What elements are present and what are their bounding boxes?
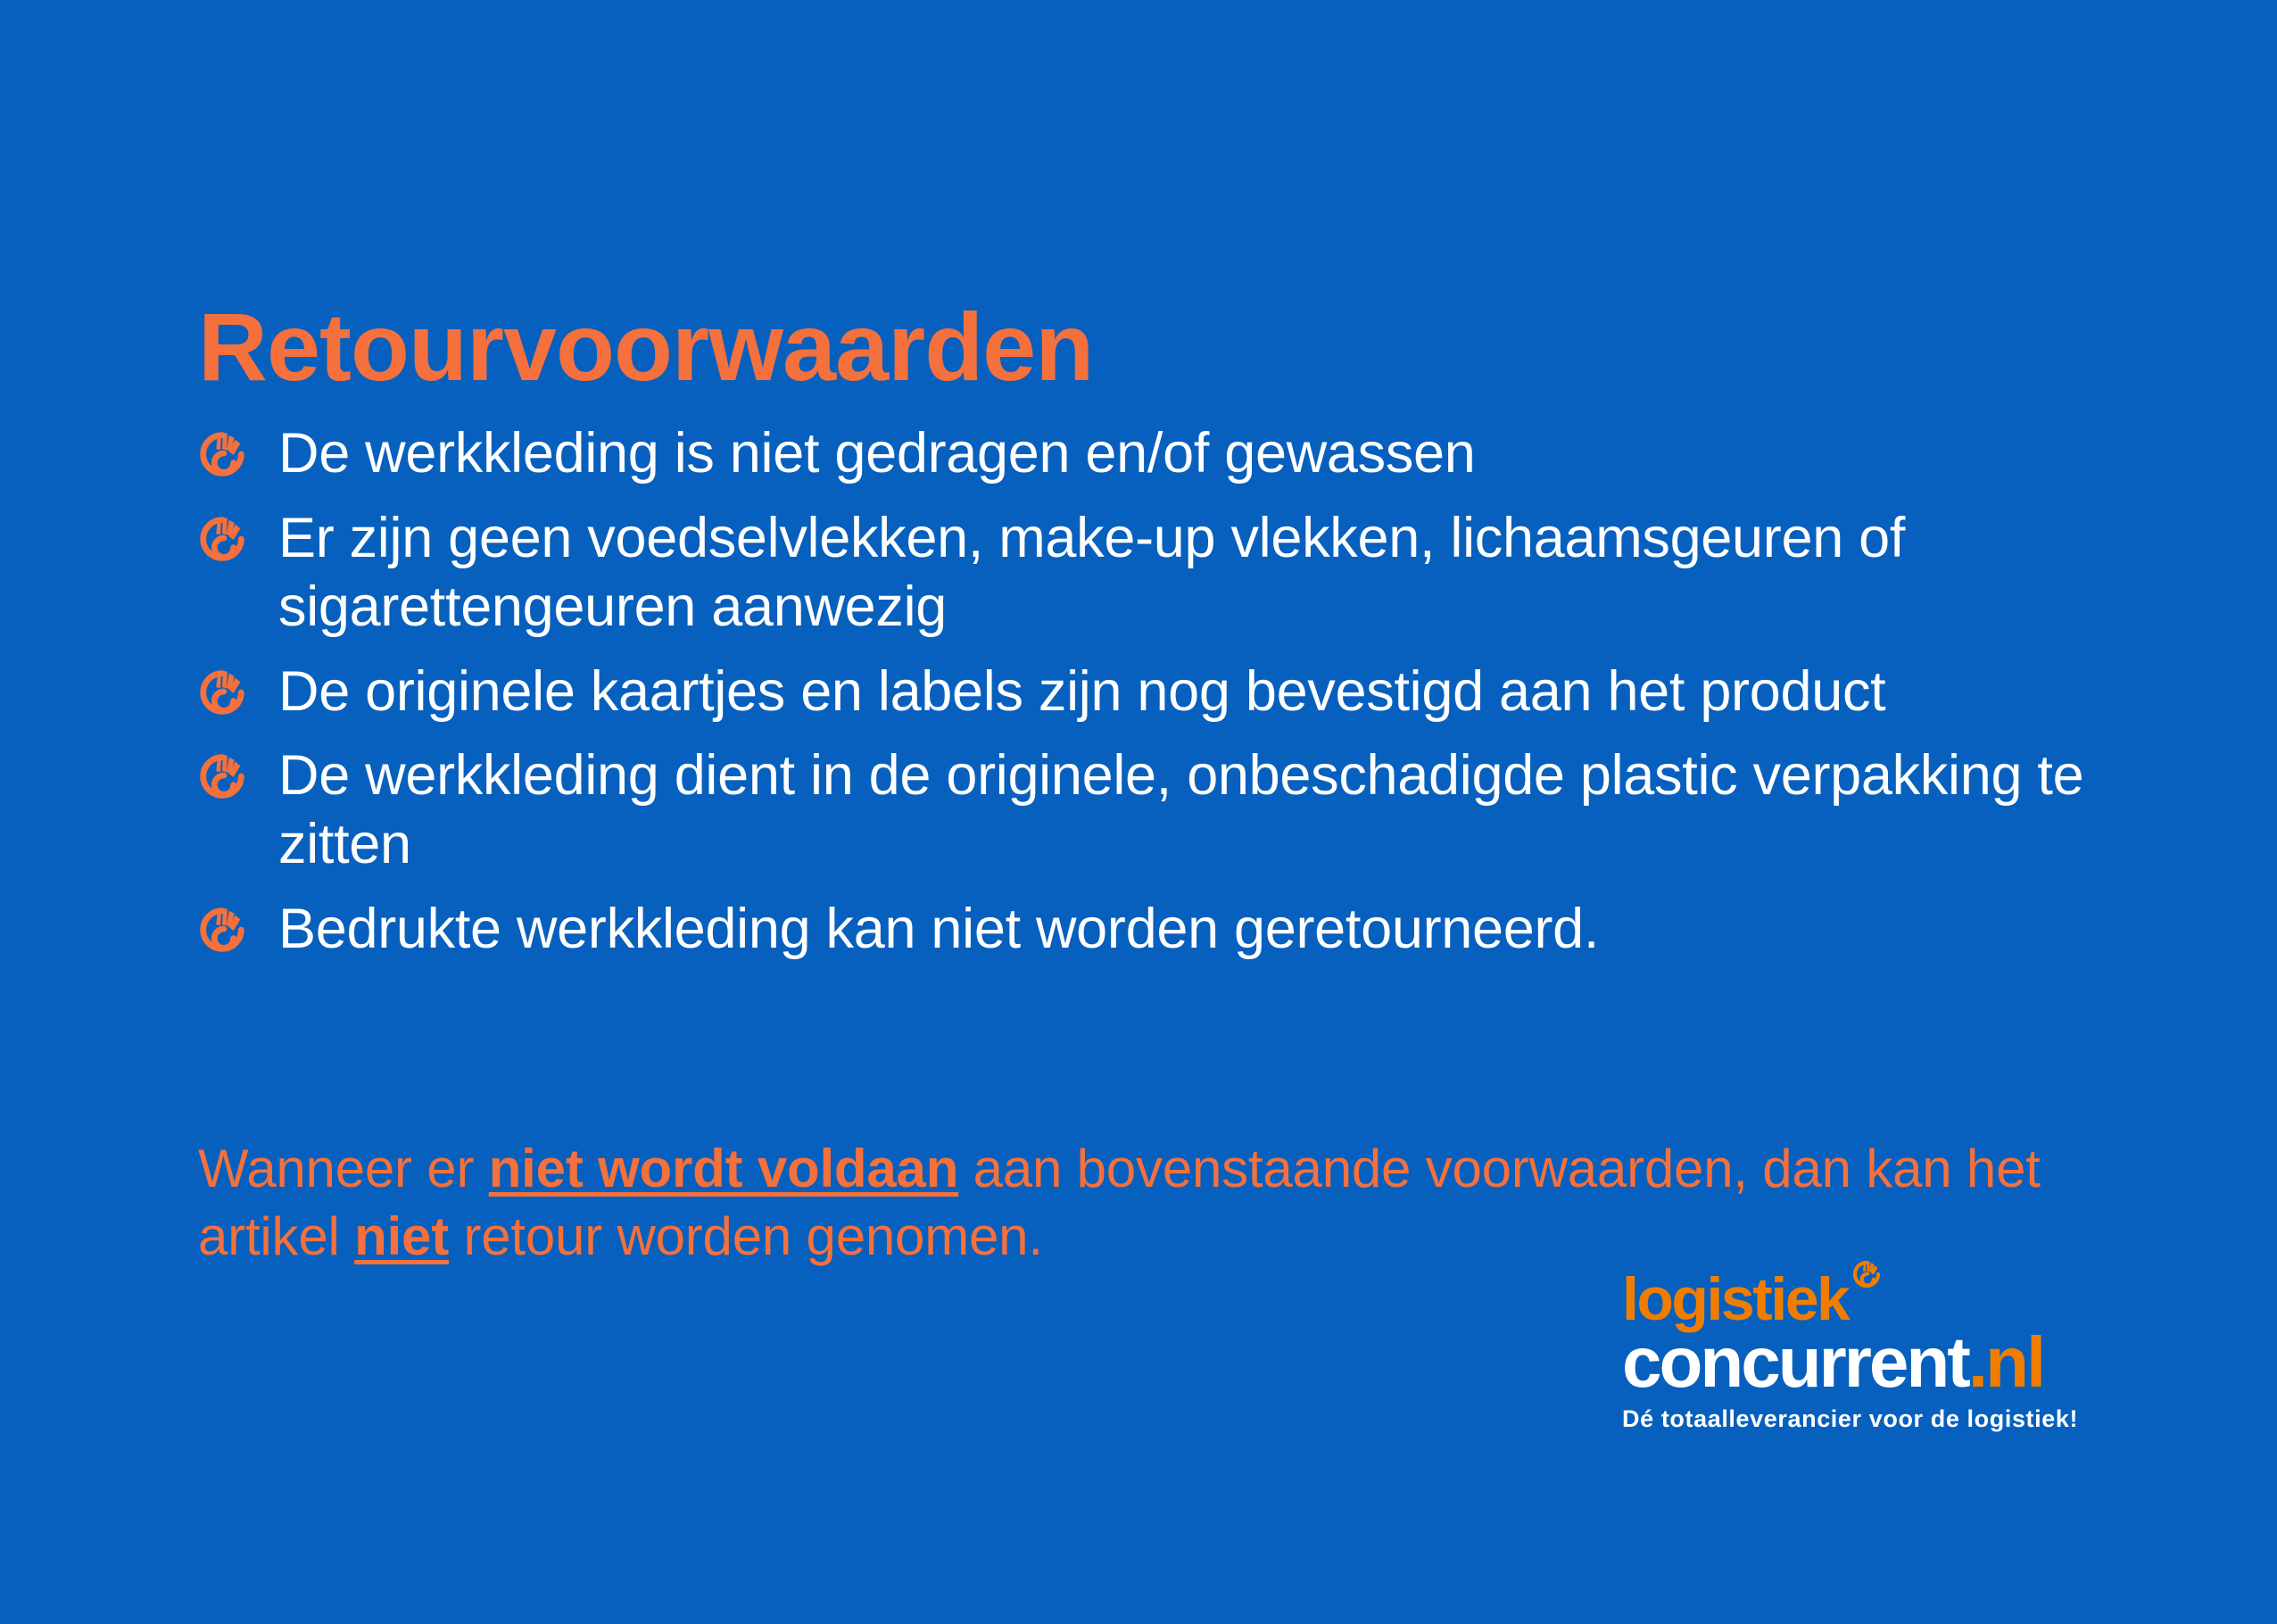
list-item: De werkkleding is niet gedragen en/of ge… <box>195 419 2122 488</box>
ok-hand-registered-icon <box>1850 1257 1884 1291</box>
list-item-label: Er zijn geen voedselvlekken, make-up vle… <box>278 504 2122 642</box>
ok-hand-icon <box>195 511 250 567</box>
ok-hand-icon <box>195 749 250 804</box>
list-item-label: De werkkleding is niet gedragen en/of ge… <box>278 419 2122 488</box>
return-policy-note: Wanneer er niet wordt voldaan aan bovens… <box>198 1135 2143 1271</box>
logo-wordmark-top: logistiek <box>1622 1265 1848 1333</box>
page-title: Retourvoorwaarden <box>198 294 1093 401</box>
list-item: Er zijn geen voedselvlekken, make-up vle… <box>195 504 2122 642</box>
list-item-label: De originele kaartjes en labels zijn nog… <box>278 658 2122 726</box>
note-emphasis-1: niet wordt voldaan <box>489 1139 958 1198</box>
note-text-part-3: retour worden genomen. <box>449 1206 1043 1266</box>
logo-wordmark-bottom-wrapper: concurrent.nl <box>1622 1330 2068 1396</box>
list-item: De werkkleding dient in de originele, on… <box>195 742 2122 879</box>
logo-tagline: Dé totaalleverancier voor de logistiek! <box>1622 1405 2068 1433</box>
conditions-list: De werkkleding is niet gedragen en/of ge… <box>195 419 2122 980</box>
ok-hand-icon <box>195 665 250 720</box>
list-item: De originele kaartjes en labels zijn nog… <box>195 658 2122 726</box>
note-emphasis-2: niet <box>354 1206 449 1266</box>
ok-hand-icon <box>195 427 250 482</box>
company-logo[interactable]: logistiek concurrent.nl Dé totaalleveran… <box>1622 1272 2068 1433</box>
logo-wordmark-top-wrapper: logistiek <box>1622 1272 1848 1328</box>
list-item: Bedrukte werkkleding kan niet worden ger… <box>195 895 2122 964</box>
list-item-label: De werkkleding dient in de originele, on… <box>278 742 2122 879</box>
slide-canvas: Retourvoorwaarden De werkkleding is niet… <box>0 0 2277 1624</box>
list-item-label: Bedrukte werkkleding kan niet worden ger… <box>278 895 2122 964</box>
ok-hand-icon <box>195 902 250 957</box>
logo-tld: .nl <box>1968 1322 2043 1402</box>
logo-wordmark-bottom: concurrent <box>1622 1322 1968 1402</box>
note-text-part-1: Wanneer er <box>198 1139 489 1198</box>
